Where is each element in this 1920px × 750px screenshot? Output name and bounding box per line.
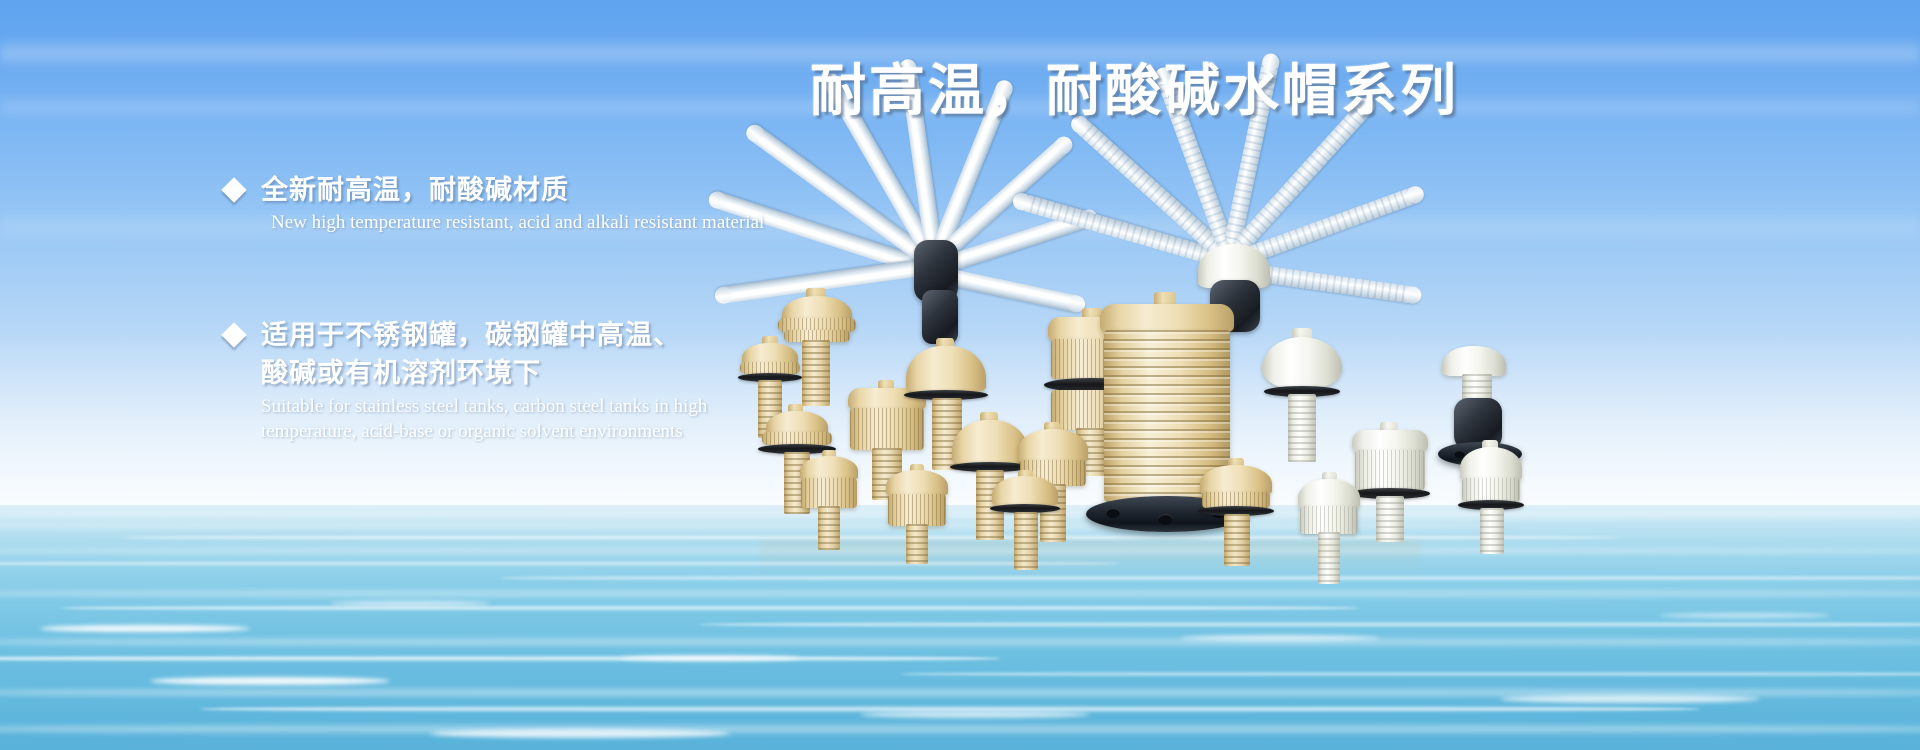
distributor-hub bbox=[922, 290, 958, 344]
diamond-bullet-icon bbox=[221, 322, 246, 347]
feature-bullet-2-en-line1: Suitable for stainless steel tanks, carb… bbox=[261, 395, 707, 419]
feature-bullet-2-en-line2: temperature, acid-base or organic solven… bbox=[261, 420, 707, 444]
feature-bullet-2-cn-line1: 适用于不锈钢罐，碳钢罐中高温、 bbox=[261, 317, 681, 355]
product-banner: 耐高温，耐酸碱水帽系列 全新耐高温，耐酸碱材质 New high tempera… bbox=[0, 0, 1920, 750]
feature-bullet-1-en: New high temperature resistant, acid and… bbox=[271, 211, 764, 235]
product-cluster-image bbox=[700, 140, 1510, 560]
feature-bullet-1: 全新耐高温，耐酸碱材质 New high temperature resista… bbox=[225, 172, 764, 236]
page-title: 耐高温，耐酸碱水帽系列 bbox=[810, 58, 1450, 125]
lateral-arm bbox=[936, 266, 1086, 314]
feature-bullet-1-cn: 全新耐高温，耐酸碱材质 bbox=[261, 172, 569, 210]
feature-bullet-2: 适用于不锈钢罐，碳钢罐中高温、 酸碱或有机溶剂环境下 Suitable for … bbox=[225, 317, 707, 444]
feature-bullet-2-cn-line2: 酸碱或有机溶剂环境下 bbox=[261, 355, 707, 393]
diamond-bullet-icon bbox=[221, 177, 246, 202]
